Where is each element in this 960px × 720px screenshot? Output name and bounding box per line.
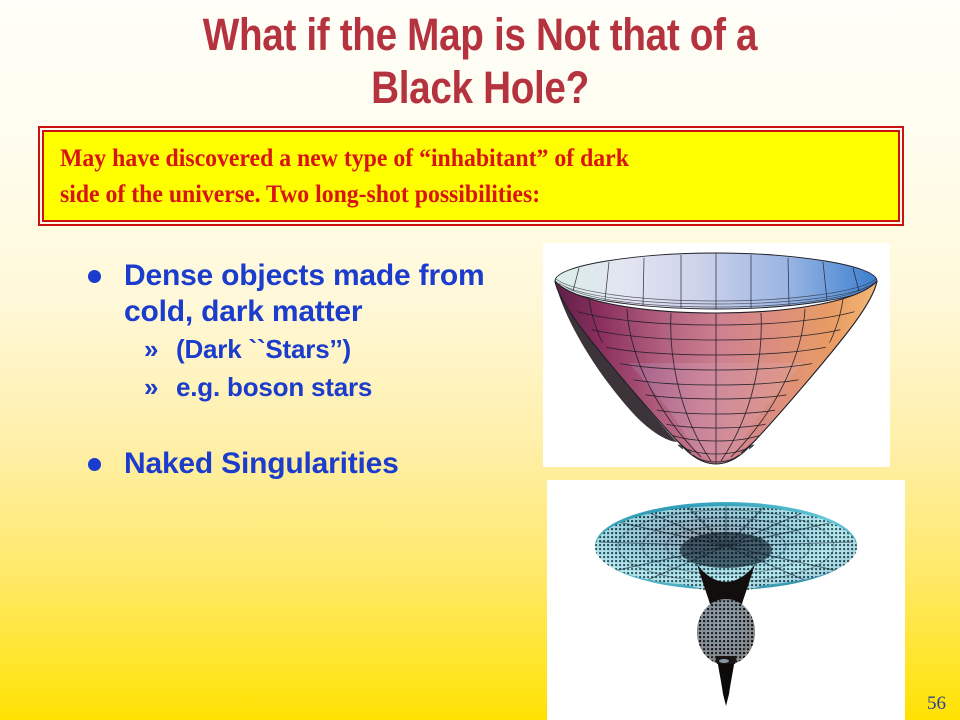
bullet-group: Dense objects made from cold, dark matte… [82, 258, 552, 406]
list-item: Dense objects made from cold, dark matte… [82, 258, 552, 330]
figure-naked-singularity [547, 480, 905, 720]
list-item: » e.g. boson stars [144, 368, 552, 406]
embedding-funnel-graphic [543, 243, 890, 467]
singularity-bulb [697, 599, 755, 665]
callout-text: May have discovered a new type of “inhab… [60, 141, 849, 213]
page-title: What if the Map is Not that of a Black H… [102, 8, 859, 114]
bullet-dot-icon [88, 458, 101, 471]
sub-bullet-chevron-icon: » [144, 368, 158, 406]
bullet-list: Dense objects made from cold, dark matte… [82, 258, 552, 482]
funnel-rim [555, 253, 877, 309]
naked-singularity-graphic [547, 480, 905, 720]
list-item: Naked Singularities [82, 446, 552, 482]
page-number: 56 [927, 694, 946, 713]
bullet-dot-icon [88, 270, 101, 283]
bullet-label: Dense objects made from cold, dark matte… [124, 259, 485, 328]
sub-bullet-label: (Dark ``Stars’’) [176, 334, 351, 364]
slide-canvas: What if the Map is Not that of a Black H… [0, 0, 960, 720]
callout-box: May have discovered a new type of “inhab… [42, 130, 900, 222]
figure-embedding-funnel [543, 243, 890, 467]
bullet-label: Naked Singularities [124, 447, 399, 480]
bullet-group: Naked Singularities [82, 446, 552, 482]
list-item: » (Dark ``Stars’’) [144, 330, 552, 368]
sub-bullet-label: e.g. boson stars [176, 372, 372, 402]
sub-bullet-chevron-icon: » [144, 330, 158, 368]
singularity-spike-highlight [719, 659, 729, 663]
singularity-spike [717, 658, 735, 706]
